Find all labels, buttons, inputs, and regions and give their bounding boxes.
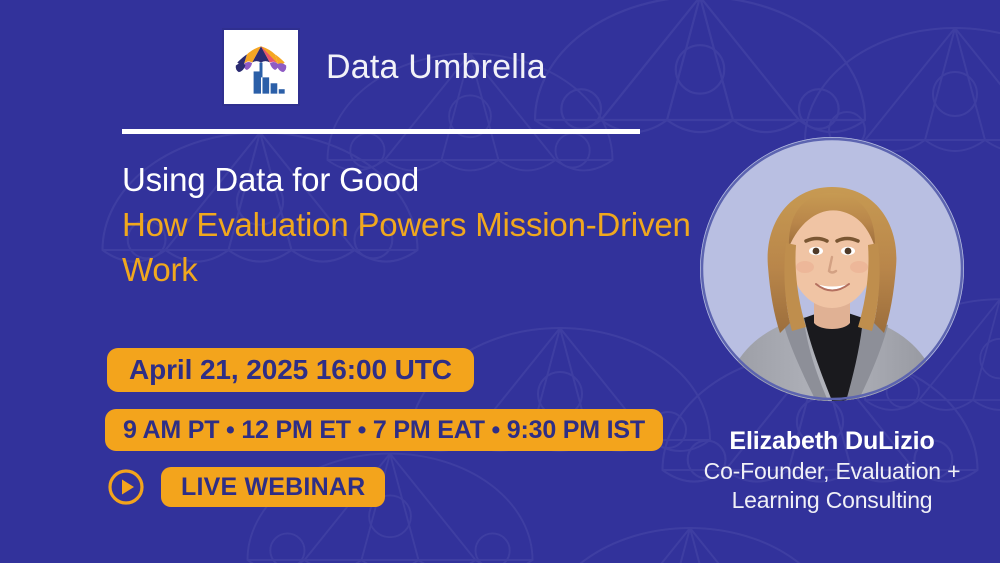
speaker-role-line2: Learning Consulting	[654, 486, 1000, 515]
live-webinar-row: LIVE WEBINAR	[107, 467, 385, 507]
page-subtitle-line2: Work	[122, 247, 692, 292]
speaker-info: Elizabeth DuLizio Co-Founder, Evaluation…	[654, 426, 1000, 515]
event-datetime-badge: April 21, 2025 16:00 UTC	[107, 348, 474, 392]
umbrella-barchart-logo	[222, 28, 300, 106]
page-title: Using Data for Good	[122, 157, 692, 202]
live-webinar-badge: LIVE WEBINAR	[161, 467, 385, 507]
page-subtitle-line1: How Evaluation Powers Mission-Driven	[122, 202, 692, 247]
play-circle-icon[interactable]	[107, 468, 145, 506]
speaker-photo	[700, 137, 964, 401]
speaker-role-line1: Co-Founder, Evaluation +	[654, 457, 1000, 486]
header-divider	[122, 129, 640, 134]
event-timezones-badge: 9 AM PT • 12 PM ET • 7 PM EAT • 9:30 PM …	[105, 409, 663, 451]
brand-name: Data Umbrella	[326, 48, 546, 87]
title-block: Using Data for Good How Evaluation Power…	[122, 157, 692, 292]
brand-header: Data Umbrella	[222, 28, 546, 106]
speaker-name: Elizabeth DuLizio	[654, 426, 1000, 457]
webinar-promo-poster: Data Umbrella Using Data for Good How Ev…	[0, 0, 1000, 563]
